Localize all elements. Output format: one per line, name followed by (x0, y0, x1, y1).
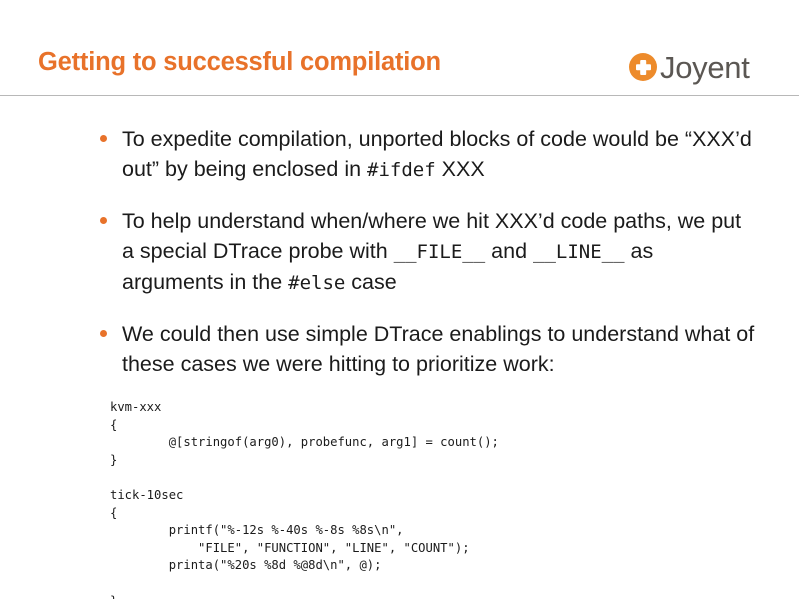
slide: Getting to successful compilation Joyent… (0, 0, 799, 599)
list-item: We could then use simple DTrace enabling… (98, 319, 758, 379)
bullet-dot-icon (100, 135, 107, 142)
list-item: To help understand when/where we hit XXX… (98, 206, 758, 298)
text-span: case (345, 270, 396, 294)
bullet-text: To help understand when/where we hit XXX… (122, 206, 758, 298)
text-span: XXX (436, 157, 485, 181)
slide-header: Getting to successful compilation Joyent (0, 0, 799, 96)
text-span: and (485, 239, 533, 263)
bullet-text: To expedite compilation, unported blocks… (122, 124, 758, 185)
list-item: To expedite compilation, unported blocks… (98, 124, 758, 185)
code-span: #ifdef (367, 159, 436, 181)
code-span: __FILE__ (394, 241, 486, 263)
dtrace-code-block: kvm-xxx { @[stringof(arg0), probefunc, a… (110, 399, 499, 599)
bullet-text: We could then use simple DTrace enabling… (122, 319, 758, 379)
text-span: We could then use simple DTrace enabling… (122, 322, 754, 376)
joyent-logo: Joyent (629, 48, 750, 86)
joyent-wordmark: Joyent (660, 52, 750, 83)
code-span: __LINE__ (533, 241, 625, 263)
code-span: #else (288, 272, 345, 294)
header-divider (0, 95, 799, 96)
slide-body: To expedite compilation, unported blocks… (98, 124, 758, 400)
joyent-plus-circle-icon (629, 53, 657, 81)
page-title: Getting to successful compilation (38, 48, 441, 77)
bullet-dot-icon (100, 217, 107, 224)
bullet-dot-icon (100, 330, 107, 337)
